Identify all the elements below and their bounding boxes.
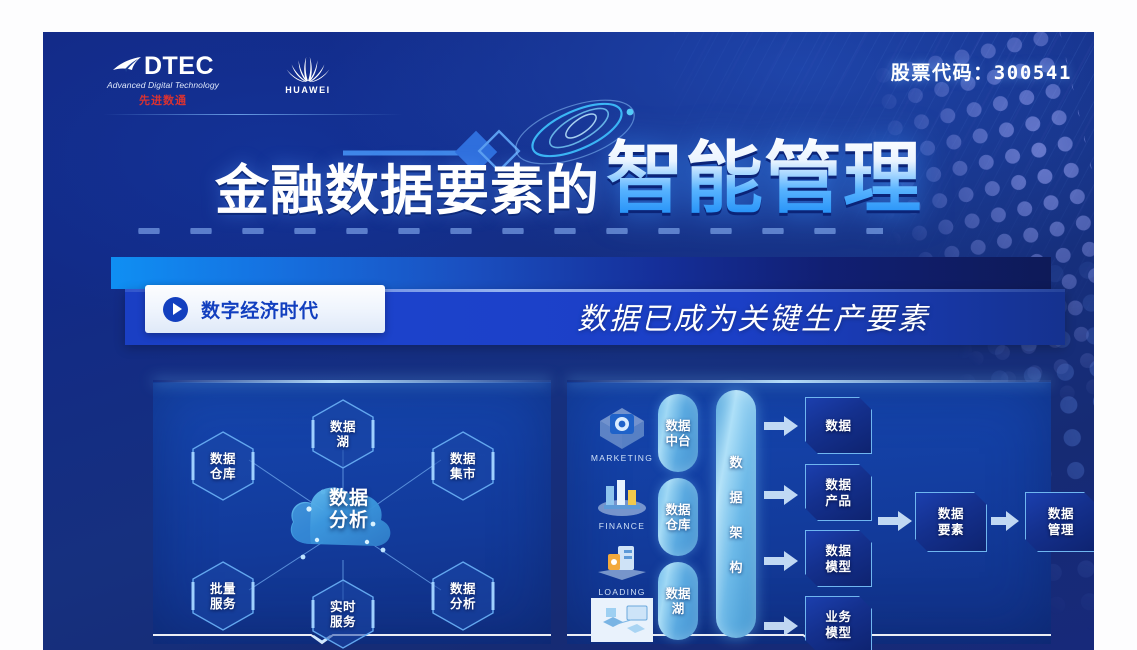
arch-char-2: 据 xyxy=(729,487,742,506)
arrow-icon-merge xyxy=(878,510,912,532)
node-data-warehouse[interactable]: 数据仓库 xyxy=(191,430,255,502)
slide-title: 金融数据要素的智能管理 xyxy=(43,140,1094,218)
source-label-marketing: MARKETING xyxy=(583,453,661,463)
play-icon xyxy=(163,297,188,322)
node-realtime-service[interactable]: 实时服务 xyxy=(311,578,375,650)
source-label-loading: LOADING xyxy=(583,587,661,597)
output-box-data[interactable]: 数据 xyxy=(805,397,872,454)
slide-title-part2: 智能管理 xyxy=(606,134,922,224)
pill-data-architecture[interactable]: 数 据 架 构 xyxy=(716,390,756,638)
node-batch-service[interactable]: 批量服务 xyxy=(191,560,255,632)
header-divider xyxy=(103,114,403,115)
chart-icon xyxy=(594,472,650,518)
dtec-chinese-name: 先进数通 xyxy=(88,92,238,108)
node-data-analysis[interactable]: 数据分析 xyxy=(431,560,495,632)
dtec-wordmark: DTEC xyxy=(144,54,214,79)
cube-icon xyxy=(594,404,650,450)
stage-box-data-element[interactable]: 数据 要素 xyxy=(915,492,987,552)
network-icon xyxy=(591,598,653,642)
node-data-mart[interactable]: 数据集市 xyxy=(431,430,495,502)
slide-canvas: DTEC Advanced Digital Technology 先进数通 xyxy=(0,0,1137,650)
cloud-label: 数据 分析 xyxy=(289,487,409,532)
output-box-data-model[interactable]: 数据 模型 xyxy=(805,530,872,587)
stock-code: 股票代码：300541 xyxy=(891,58,1072,85)
dtec-logo: DTEC Advanced Digital Technology 先进数通 xyxy=(88,54,238,108)
arrow-icon-output-3 xyxy=(764,550,798,572)
huawei-flower-icon xyxy=(272,56,344,82)
output-box-business-model[interactable]: 业务 模型 xyxy=(805,596,872,650)
huawei-logo: HUAWEI xyxy=(272,54,344,95)
logo-group: DTEC Advanced Digital Technology 先进数通 xyxy=(88,54,344,108)
arch-char-3: 架 xyxy=(729,522,742,541)
pill-data-lake[interactable]: 数据 湖 xyxy=(658,562,698,640)
arch-char-4: 构 xyxy=(729,557,742,576)
pill-data-midplatform[interactable]: 数据 中台 xyxy=(658,394,698,472)
arrow-icon-output-2 xyxy=(764,484,798,506)
server-icon xyxy=(594,538,650,584)
pill-data-warehouse[interactable]: 数据 仓库 xyxy=(658,478,698,556)
stage-box-data-management[interactable]: 数据 管理 xyxy=(1025,492,1094,552)
arrow-icon-output-1 xyxy=(764,415,798,437)
dot-row-decoration xyxy=(123,228,883,234)
source-label-finance: FINANCE xyxy=(583,521,661,531)
node-data-lake[interactable]: 数据湖 xyxy=(311,398,375,470)
arrow-icon-final xyxy=(991,510,1025,532)
presentation-slide: DTEC Advanced Digital Technology 先进数通 xyxy=(43,32,1094,650)
huawei-wordmark: HUAWEI xyxy=(272,85,344,95)
arch-char-1: 数 xyxy=(729,452,742,471)
slide-title-part1: 金融数据要素的 xyxy=(215,159,600,222)
section-tab[interactable]: 数字经济时代 xyxy=(145,285,385,333)
section-headline: 数据已成为关键生产要素 xyxy=(473,294,1033,338)
arrow-icon-output-4 xyxy=(764,615,798,637)
dtec-arrow-icon xyxy=(112,56,142,78)
section-tab-label: 数字经济时代 xyxy=(201,296,319,323)
dtec-tagline: Advanced Digital Technology xyxy=(88,80,238,90)
output-box-data-product[interactable]: 数据 产品 xyxy=(805,464,872,521)
